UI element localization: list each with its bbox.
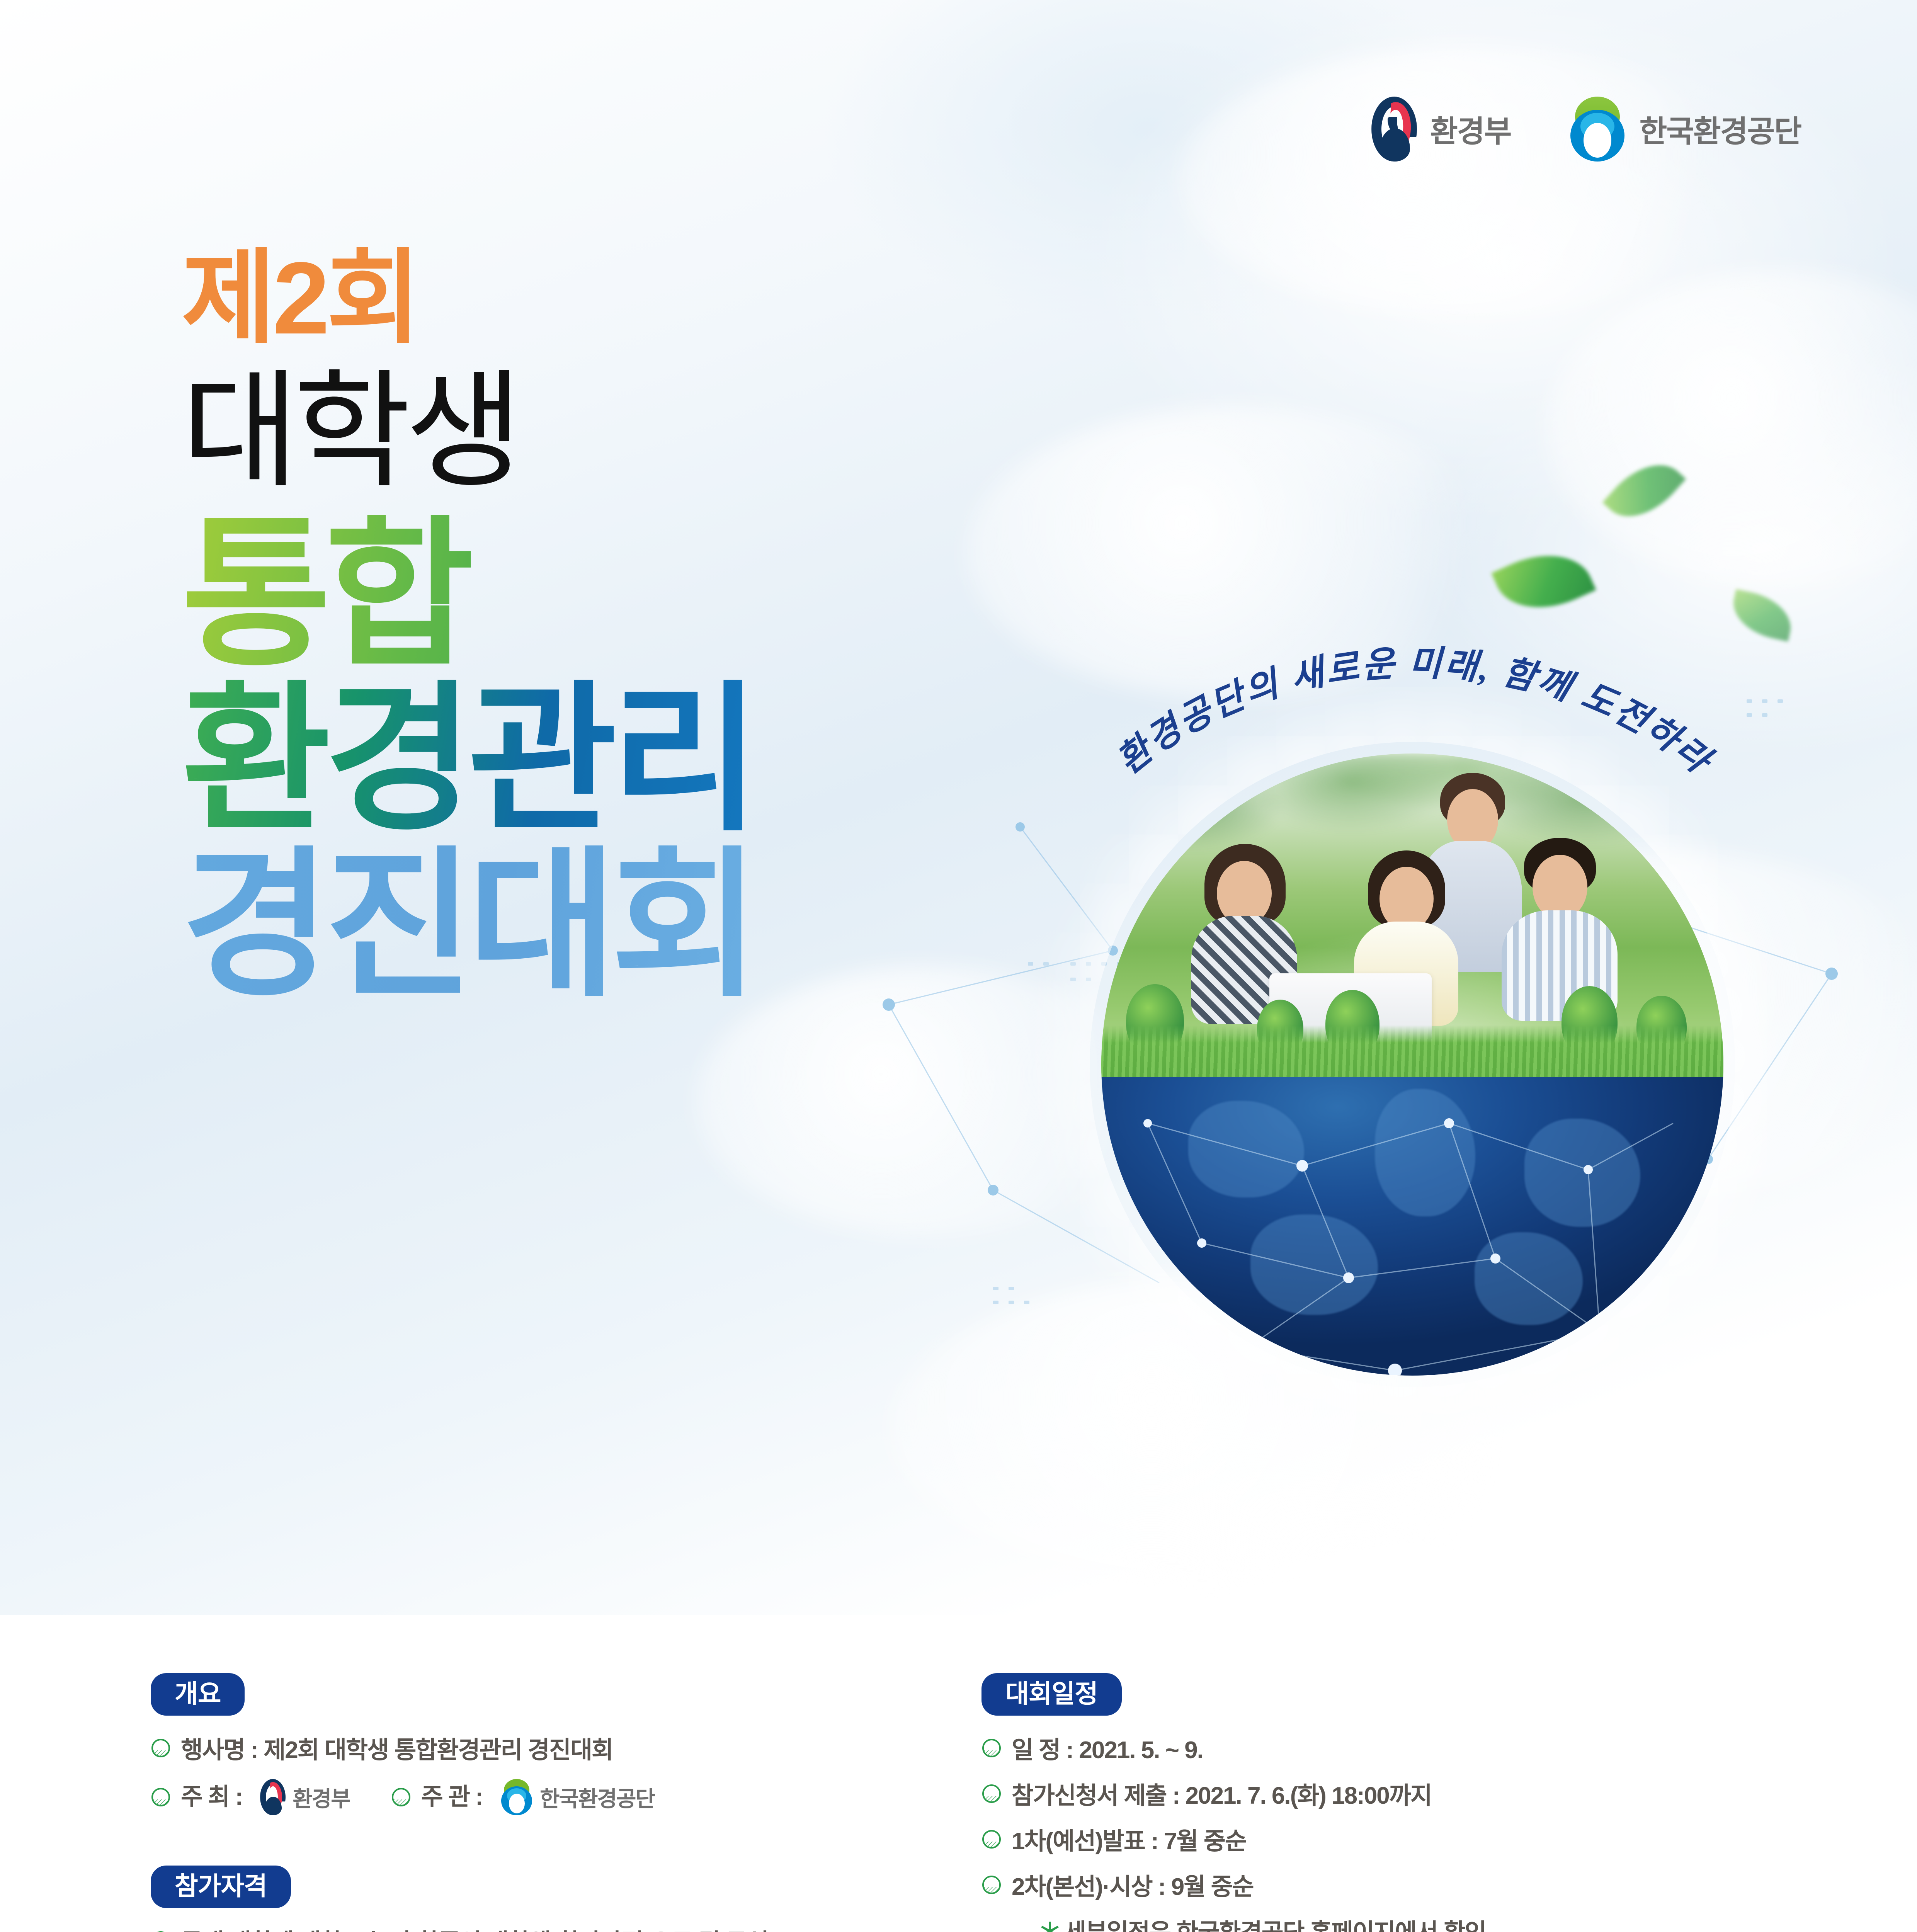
section-schedule-body: 일 정 : 2021. 5. ~ 9. 참가신청서 제출 : 2021. 7. … xyxy=(981,1733,1801,1932)
network-lines-globe xyxy=(1101,1077,1723,1376)
schedule-item-text: 일 정 : 2021. 5. ~ 9. xyxy=(1012,1733,1203,1767)
bullet-circle-icon xyxy=(391,1787,411,1807)
keco-circle-icon xyxy=(1569,97,1626,162)
schedule-item: 1차(예선)발표 : 7월 중순 xyxy=(981,1825,1801,1859)
moe-taegeuk-icon xyxy=(260,1779,286,1815)
bullet-circle-icon xyxy=(151,1738,171,1758)
poster-title-block: 제2회 대학생 통합 환경관리 경진대회 xyxy=(182,247,754,1005)
logo-keco: 한국환경공단 xyxy=(1569,97,1801,162)
schedule-item-text: 1차(예선)발표 : 7월 중순 xyxy=(1012,1825,1246,1859)
title-edition: 제2회 xyxy=(182,247,754,350)
bullet-circle-icon xyxy=(981,1738,1002,1758)
schedule-item: 일 정 : 2021. 5. ~ 9. xyxy=(981,1733,1801,1767)
section-overview-body: 행사명 : 제2회 대학생 통합환경관리 경진대회 주 최 : 환경부 주 관 … xyxy=(151,1733,954,1815)
logo-moe: 환경부 xyxy=(1371,97,1511,162)
moe-taegeuk-icon xyxy=(1371,97,1417,162)
bullet-circle-icon xyxy=(981,1784,1002,1804)
header-logos: 환경부 한국환경공단 xyxy=(1371,97,1801,162)
section-overview: 개요 행사명 : 제2회 대학생 통합환경관리 경진대회 주 최 : 환경부 xyxy=(151,1673,954,1815)
keco-circle-icon xyxy=(500,1779,533,1815)
bullet-circle-icon xyxy=(981,1829,1002,1849)
title-line-1: 통합 xyxy=(182,515,754,674)
overview-host-org: 환경부 xyxy=(293,1782,350,1813)
title-audience: 대학생 xyxy=(182,367,754,495)
section-badge-eligibility: 참가자격 xyxy=(151,1866,291,1908)
overview-event-row: 행사명 : 제2회 대학생 통합환경관리 경진대회 xyxy=(151,1733,954,1767)
title-line-3: 경진대회 xyxy=(182,845,754,1005)
bullet-circle-icon xyxy=(151,1787,171,1807)
schedule-item: 2차(본선)·시상 : 9월 중순 xyxy=(981,1870,1801,1904)
hero-globe-illustration: 환경공단의 새로운 미래, 함께 도전하라 xyxy=(974,587,1855,1492)
bullet-circle-icon xyxy=(151,1930,171,1932)
section-schedule: 대회일정 일 정 : 2021. 5. ~ 9. 참가신청서 제출 : 2021… xyxy=(981,1673,1801,1932)
grass-band xyxy=(1101,1025,1723,1077)
info-column-right: 대회일정 일 정 : 2021. 5. ~ 9. 참가신청서 제출 : 2021… xyxy=(981,1673,1801,1932)
schedule-note-text: 세부일정은 한국환경공단 홈페이지에서 확인 xyxy=(1064,1919,1486,1932)
eligibility-line-1: 국내 대학에 재학 또는 휴학중인 대학생(학사과정)으로 팀 구성 xyxy=(181,1926,768,1932)
bullet-circle-icon xyxy=(981,1875,1002,1895)
overview-host-logo: 환경부 xyxy=(260,1779,350,1815)
overview-organizer-logo: 한국환경공단 xyxy=(500,1779,655,1815)
section-badge-schedule: 대회일정 xyxy=(981,1673,1122,1716)
info-column-left: 개요 행사명 : 제2회 대학생 통합환경관리 경진대회 주 최 : 환경부 xyxy=(151,1673,954,1932)
logo-keco-label: 한국환경공단 xyxy=(1639,107,1801,151)
section-eligibility-body: 국내 대학에 재학 또는 휴학중인 대학생(학사과정)으로 팀 구성 (팀당 3… xyxy=(151,1926,954,1932)
globe-lower-network xyxy=(1101,1077,1723,1376)
globe-sphere xyxy=(1101,753,1723,1376)
schedule-note: ＊세부일정은 한국환경공단 홈페이지에서 확인 xyxy=(1038,1916,1801,1932)
section-badge-overview: 개요 xyxy=(151,1673,245,1716)
overview-host-row: 주 최 : 환경부 주 관 : 한국환경공단 xyxy=(151,1779,954,1815)
overview-organizer-org: 한국환경공단 xyxy=(540,1782,655,1813)
overview-host-label: 주 최 : xyxy=(181,1780,242,1814)
title-line-2: 환경관리 xyxy=(182,680,754,839)
asterisk-icon: ＊ xyxy=(1038,1919,1061,1932)
globe-upper-scene xyxy=(1101,753,1723,1077)
face-shape xyxy=(1533,855,1587,920)
overview-event-label: 행사명 : 제2회 대학생 통합환경관리 경진대회 xyxy=(181,1733,613,1767)
schedule-item: 참가신청서 제출 : 2021. 7. 6.(화) 18:00까지 xyxy=(981,1779,1801,1813)
overview-organizer-label: 주 관 : xyxy=(421,1780,483,1814)
logo-moe-label: 환경부 xyxy=(1430,107,1511,151)
schedule-item-text: 참가신청서 제출 : 2021. 7. 6.(화) 18:00까지 xyxy=(1012,1779,1432,1813)
section-eligibility: 참가자격 국내 대학에 재학 또는 휴학중인 대학생(학사과정)으로 팀 구성 … xyxy=(151,1866,954,1932)
eligibility-row: 국내 대학에 재학 또는 휴학중인 대학생(학사과정)으로 팀 구성 xyxy=(151,1926,954,1932)
cloud-shape xyxy=(1179,46,1758,317)
schedule-item-text: 2차(본선)·시상 : 9월 중순 xyxy=(1012,1870,1254,1904)
